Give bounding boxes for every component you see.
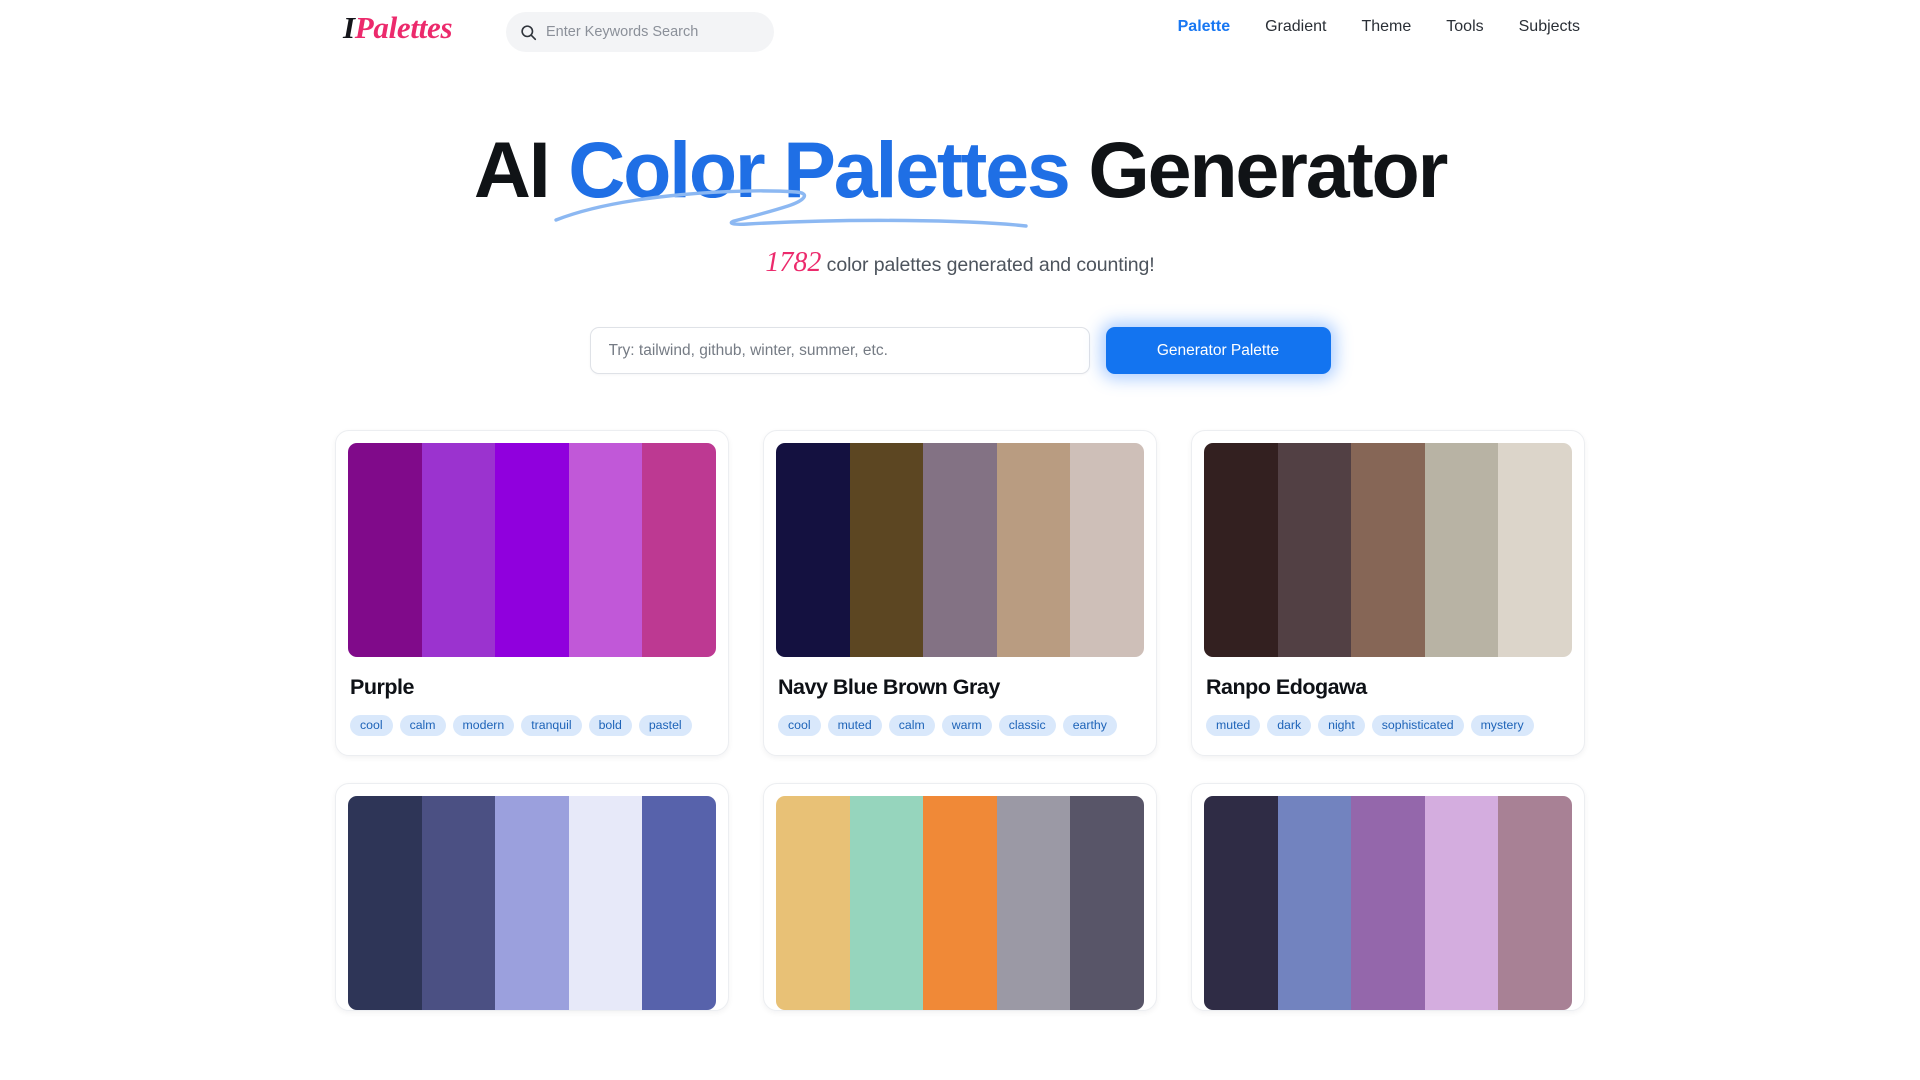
- palette-swatch-strip[interactable]: [1204, 443, 1572, 657]
- palette-tag[interactable]: earthy: [1063, 715, 1117, 736]
- palette-swatch[interactable]: [642, 796, 716, 1010]
- palette-card[interactable]: Purplecoolcalmmoderntranquilboldpastel: [335, 430, 729, 756]
- palette-swatch-strip[interactable]: [348, 796, 716, 1010]
- palette-swatch[interactable]: [495, 443, 569, 657]
- headline-pre: AI: [474, 125, 568, 214]
- palette-card[interactable]: Navy Blue Brown Graycoolmutedcalmwarmcla…: [763, 430, 1157, 756]
- site-header: IPalettes Palette Gradient Theme Tools S…: [0, 0, 1920, 64]
- palette-card-title: Ranpo Edogawa: [1206, 675, 1572, 700]
- palette-swatch[interactable]: [1070, 796, 1144, 1010]
- palette-count: 1782: [765, 247, 821, 278]
- palette-swatch[interactable]: [495, 796, 569, 1010]
- palette-swatch[interactable]: [923, 796, 997, 1010]
- palette-swatch[interactable]: [1204, 796, 1278, 1010]
- palette-tag-list: muteddarknightsophisticatedmystery: [1206, 715, 1572, 736]
- palette-card[interactable]: [1191, 783, 1585, 1011]
- palette-tag[interactable]: warm: [942, 715, 992, 736]
- headline-highlight: Color Palettes: [568, 125, 1068, 214]
- main-nav: Palette Gradient Theme Tools Subjects: [1178, 17, 1580, 36]
- palette-tag[interactable]: pastel: [639, 715, 692, 736]
- generator-row: Generator Palette: [0, 327, 1920, 374]
- nav-item-subjects[interactable]: Subjects: [1519, 17, 1580, 36]
- headline-post: Generator: [1069, 125, 1447, 214]
- palette-swatch[interactable]: [1498, 796, 1572, 1010]
- nav-item-tools[interactable]: Tools: [1446, 17, 1483, 36]
- palette-swatch[interactable]: [569, 443, 643, 657]
- palette-swatch[interactable]: [997, 443, 1071, 657]
- palette-tag[interactable]: modern: [453, 715, 515, 736]
- palette-swatch[interactable]: [642, 443, 716, 657]
- search-icon: [520, 24, 537, 41]
- palette-tag[interactable]: cool: [350, 715, 393, 736]
- logo-initial: I: [343, 10, 355, 45]
- palette-tag[interactable]: muted: [828, 715, 882, 736]
- palette-tag[interactable]: muted: [1206, 715, 1260, 736]
- palette-swatch[interactable]: [1351, 443, 1425, 657]
- palette-swatch[interactable]: [1278, 796, 1352, 1010]
- palette-swatch[interactable]: [348, 443, 422, 657]
- palette-swatch-strip[interactable]: [1204, 796, 1572, 1010]
- site-logo[interactable]: IPalettes: [343, 12, 452, 43]
- nav-item-palette[interactable]: Palette: [1178, 17, 1230, 36]
- palette-swatch[interactable]: [776, 796, 850, 1010]
- palette-swatch[interactable]: [1278, 443, 1352, 657]
- palette-grid: PurplecoolcalmmoderntranquilboldpastelNa…: [335, 430, 1585, 1011]
- palette-swatch[interactable]: [348, 796, 422, 1010]
- palette-swatch-strip[interactable]: [348, 443, 716, 657]
- palette-swatch[interactable]: [422, 796, 496, 1010]
- palette-tag[interactable]: classic: [999, 715, 1056, 736]
- palette-swatch[interactable]: [1425, 443, 1499, 657]
- palette-tag[interactable]: mystery: [1471, 715, 1534, 736]
- palette-tag-list: coolcalmmoderntranquilboldpastel: [350, 715, 716, 736]
- palette-tag-list: coolmutedcalmwarmclassicearthy: [778, 715, 1144, 736]
- palette-tag[interactable]: bold: [589, 715, 632, 736]
- palette-card-title: Navy Blue Brown Gray: [778, 675, 1144, 700]
- palette-count-text: color palettes generated and counting!: [821, 254, 1154, 276]
- hero-section: AI Color Palettes Generator 1782 color p…: [0, 130, 1920, 374]
- palette-swatch[interactable]: [1351, 796, 1425, 1010]
- generator-prompt-input[interactable]: [609, 342, 1071, 360]
- palette-swatch[interactable]: [1204, 443, 1278, 657]
- palette-tag[interactable]: tranquil: [521, 715, 581, 736]
- palette-swatch-strip[interactable]: [776, 443, 1144, 657]
- palette-swatch[interactable]: [776, 443, 850, 657]
- palette-tag[interactable]: calm: [400, 715, 446, 736]
- palette-swatch[interactable]: [1498, 443, 1572, 657]
- palette-card[interactable]: [763, 783, 1157, 1011]
- header-search-box[interactable]: [506, 12, 774, 52]
- palette-tag[interactable]: dark: [1267, 715, 1311, 736]
- palette-swatch[interactable]: [569, 796, 643, 1010]
- palette-card[interactable]: Ranpo Edogawamuteddarknightsophisticated…: [1191, 430, 1585, 756]
- palette-swatch[interactable]: [1070, 443, 1144, 657]
- generator-input-wrapper[interactable]: [590, 327, 1090, 374]
- palette-tag[interactable]: night: [1318, 715, 1365, 736]
- generate-palette-button[interactable]: Generator Palette: [1106, 327, 1331, 374]
- palette-tag[interactable]: cool: [778, 715, 821, 736]
- palette-count-line: 1782 color palettes generated and counti…: [0, 247, 1920, 279]
- palette-tag[interactable]: calm: [889, 715, 935, 736]
- palette-swatch[interactable]: [422, 443, 496, 657]
- nav-item-gradient[interactable]: Gradient: [1265, 17, 1326, 36]
- nav-item-theme[interactable]: Theme: [1361, 17, 1411, 36]
- page-title: AI Color Palettes Generator: [474, 130, 1446, 209]
- palette-swatch[interactable]: [997, 796, 1071, 1010]
- palette-swatch-strip[interactable]: [776, 796, 1144, 1010]
- palette-swatch[interactable]: [923, 443, 997, 657]
- palette-tag[interactable]: sophisticated: [1372, 715, 1464, 736]
- palette-swatch[interactable]: [1425, 796, 1499, 1010]
- palette-card-title: Purple: [350, 675, 716, 700]
- logo-wordmark: Palettes: [355, 10, 452, 45]
- header-search-input[interactable]: [546, 24, 760, 40]
- palette-swatch[interactable]: [850, 796, 924, 1010]
- palette-card[interactable]: [335, 783, 729, 1011]
- palette-swatch[interactable]: [850, 443, 924, 657]
